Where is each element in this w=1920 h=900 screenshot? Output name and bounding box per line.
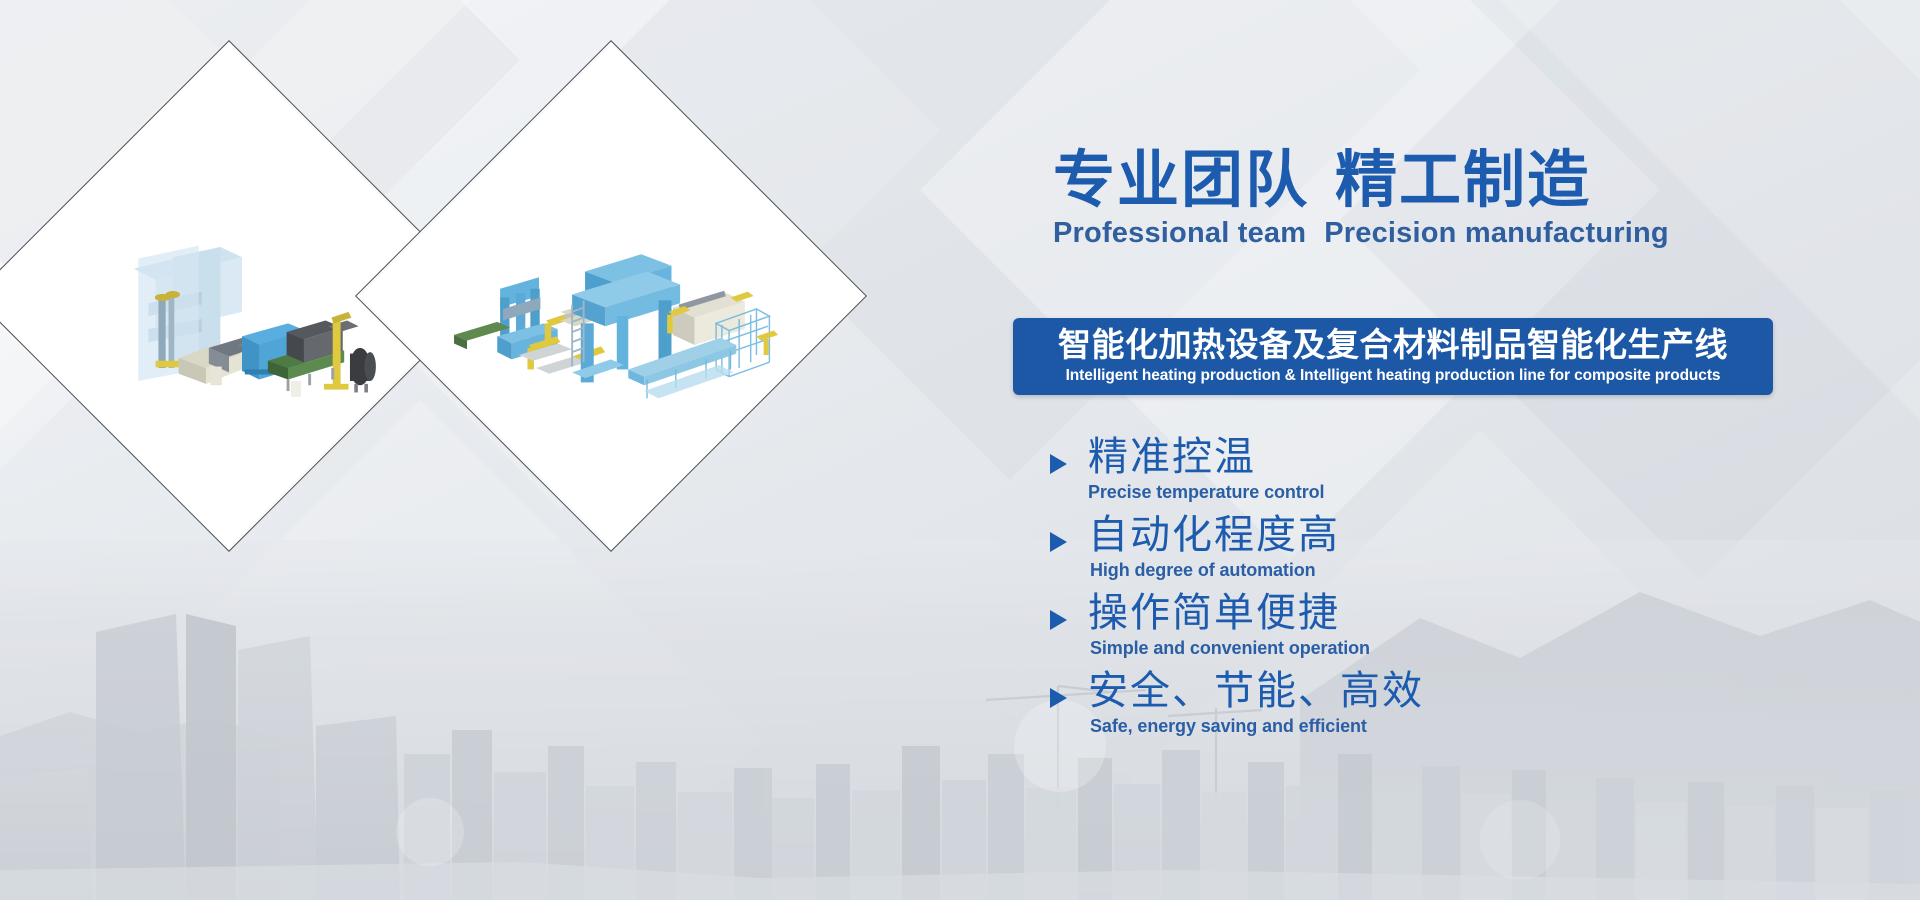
headline-cn-right: 精工制造 — [1335, 143, 1591, 216]
feature-item-simple-convenient-operation: 操作简单便捷 Simple and convenient operation — [1038, 594, 1738, 672]
triangle-right-icon — [1050, 454, 1067, 474]
product-title-english: Intelligent heating production & Intelli… — [1027, 367, 1759, 385]
feature-label-chinese: 自动化程度高 — [1088, 510, 1340, 560]
feature-item-precise-temperature-control: 精准控温 Precise temperature control — [1038, 438, 1738, 516]
feature-item-safe-energy-saving-efficient: 安全、节能、高效 Safe, energy saving and efficie… — [1038, 672, 1738, 750]
headline-english: Professional teamPrecision manufacturing — [1053, 217, 1913, 250]
feature-label-english: Safe, energy saving and efficient — [1090, 716, 1367, 737]
headline-en-left: Professional team — [1053, 217, 1306, 249]
feature-label-chinese: 操作简单便捷 — [1088, 588, 1340, 638]
triangle-right-icon — [1050, 688, 1067, 708]
headline-en-right: Precision manufacturing — [1324, 217, 1669, 249]
render-2-inner — [431, 116, 791, 476]
triangle-right-icon — [1050, 610, 1067, 630]
headline-cn-left: 专业团队 — [1053, 143, 1309, 216]
feature-label-chinese: 精准控温 — [1088, 432, 1256, 482]
promo-banner: 专业团队精工制造 Professional teamPrecision manu… — [0, 0, 1920, 900]
headline-chinese: 专业团队精工制造 — [1053, 148, 1913, 211]
feature-item-high-degree-of-automation: 自动化程度高 High degree of automation — [1038, 516, 1738, 594]
product-title-bar: 智能化加热设备及复合材料制品智能化生产线 Intelligent heating… — [1013, 318, 1773, 395]
headline-block: 专业团队精工制造 Professional teamPrecision manu… — [1053, 148, 1913, 250]
feature-label-english: Precise temperature control — [1088, 482, 1324, 503]
triangle-right-icon — [1050, 532, 1067, 552]
feature-label-english: Simple and convenient operation — [1090, 638, 1370, 659]
feature-label-english: High degree of automation — [1090, 560, 1316, 581]
feature-list: 精准控温 Precise temperature control 自动化程度高 … — [1038, 438, 1738, 750]
product-title-chinese: 智能化加热设备及复合材料制品智能化生产线 — [1027, 326, 1759, 364]
content-column: 专业团队精工制造 Professional teamPrecision manu… — [1038, 0, 1918, 900]
feature-label-chinese: 安全、节能、高效 — [1088, 666, 1424, 716]
